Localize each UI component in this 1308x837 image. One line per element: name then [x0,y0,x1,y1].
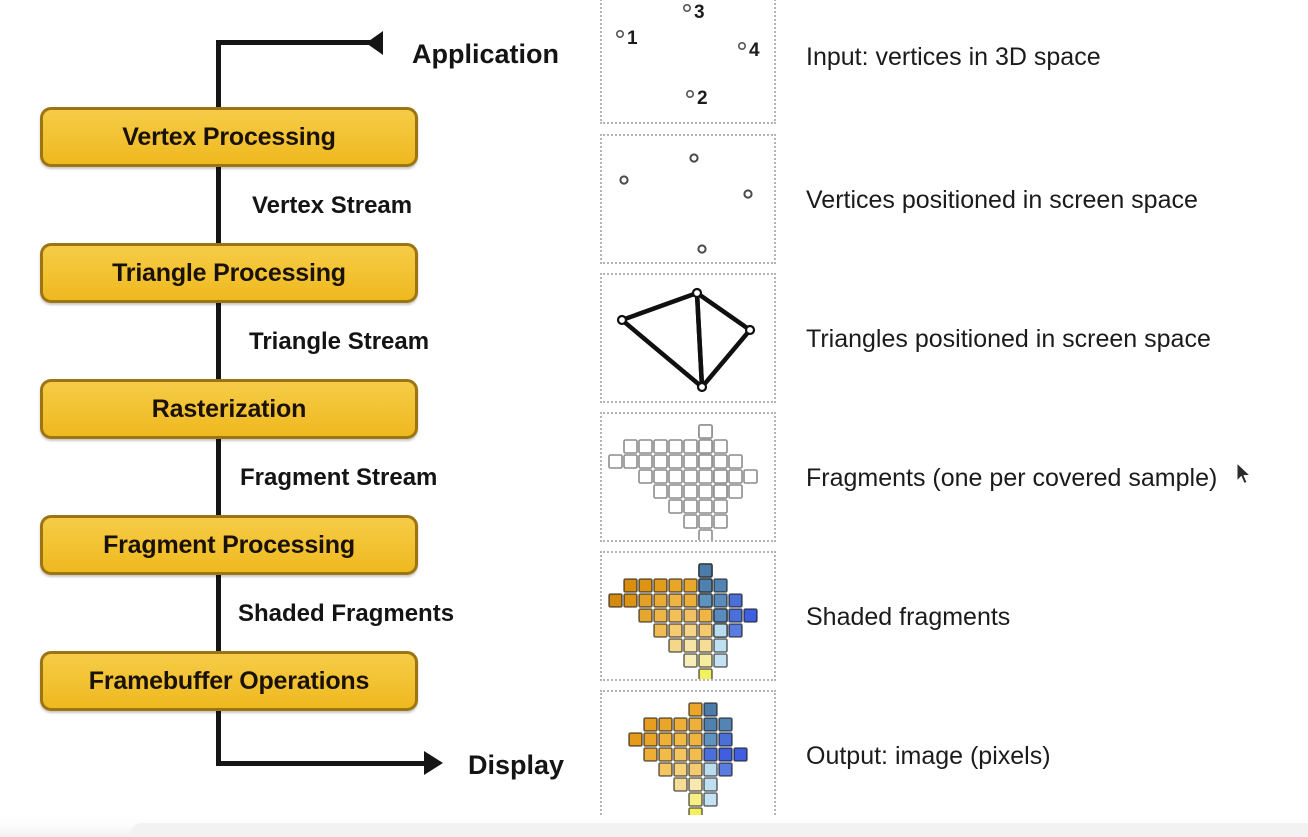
fragment-cell [659,763,672,776]
fragment-cell [684,639,697,652]
fragment-cell [699,564,712,577]
fragment-cell [654,624,667,637]
caption-vertices-screen: Vertices positioned in screen space [806,186,1198,215]
stage-box-triangle-processing[interactable]: Triangle Processing [40,243,418,303]
panel-shaded-fragments-graphic [602,553,774,679]
fragment-cell [719,748,732,761]
fragment-cell [654,440,667,453]
fragment-cell [704,703,717,716]
fragment-cell [714,500,727,513]
edge-label-triangle-stream: Triangle Stream [249,328,429,356]
vertex-number-label: 4 [749,40,760,61]
fragment-cell [704,778,717,791]
stage-box-fragment-processing[interactable]: Fragment Processing [40,515,418,575]
fragment-cell [704,748,717,761]
fragment-cell [654,609,667,622]
vertex-number-label: 1 [627,28,638,49]
vertex-dot [744,190,751,197]
fragment-cell [669,594,682,607]
fragment-cell [729,485,742,498]
fragment-cell [699,624,712,637]
fragment-cell [689,718,702,731]
vertex-dot [746,326,754,334]
fragment-cell [699,594,712,607]
fragment-cell [699,639,712,652]
vertex-dot [618,316,626,324]
fragment-cell [719,733,732,746]
vertex-dot [739,43,745,49]
fragment-cell [639,470,652,483]
fragment-cell [609,455,622,468]
panel-vertices-3d: 1234 [600,0,776,124]
fragment-cell [734,748,747,761]
caption-vertices-3d: Input: vertices in 3D space [806,43,1101,72]
endpoint-display-label: Display [468,750,564,781]
vertex-dot [698,245,705,252]
fragment-cell [714,485,727,498]
page-bottom-edge [0,815,1308,837]
fragment-cell [699,470,712,483]
panel-vertices-screen [600,134,776,264]
fragment-cell [714,654,727,667]
fragment-cell [714,579,727,592]
panel-vertices-screen-graphic [602,136,774,262]
fragment-cell [654,579,667,592]
fragment-cell [684,485,697,498]
triangle-outline [622,293,702,387]
fragment-cell [624,455,637,468]
fragment-cell [669,440,682,453]
fragment-cell [674,718,687,731]
panel-fragments [600,412,776,542]
fragment-cell [684,440,697,453]
fragment-cell [689,793,702,806]
vertex-dot [690,154,697,161]
fragment-cell [704,763,717,776]
fragment-cell [669,455,682,468]
fragment-cell [699,654,712,667]
fragment-cell [719,718,732,731]
page-bottom-edge-inner [130,823,1308,837]
stage-label-fragment-processing: Fragment Processing [103,531,355,560]
fragment-cell [729,624,742,637]
fragment-cell [659,718,672,731]
endpoint-application-label: Application [412,39,559,70]
fragment-cell [714,470,727,483]
stage-box-vertex-processing[interactable]: Vertex Processing [40,107,418,167]
fragment-cell [654,485,667,498]
fragment-cell [699,530,712,540]
fragment-cell [699,515,712,528]
fragment-cell [714,440,727,453]
fragment-cell [684,594,697,607]
fragment-cell [644,718,657,731]
stage-label-rasterization: Rasterization [152,395,306,424]
diagram-canvas: Application Vertex Processing Vertex Str… [0,0,1308,837]
fragment-cell [669,500,682,513]
vertex-dot [620,176,627,183]
panel-output-image-graphic [602,692,774,820]
arrow-right-icon [424,751,443,775]
arrow-left-icon [366,31,383,55]
panel-fragments-graphic [602,414,774,540]
fragment-cell [689,703,702,716]
fragment-cell [674,748,687,761]
panel-output-image [600,690,776,822]
fragment-cell [639,609,652,622]
vertex-dot [684,5,690,11]
panel-triangles-screen-graphic [602,275,774,401]
edge-label-shaded-fragments: Shaded Fragments [238,600,454,628]
fragment-cell [689,778,702,791]
fragment-cell [684,515,697,528]
fragment-cell [654,470,667,483]
fragment-cell [684,579,697,592]
fragment-cell [669,485,682,498]
fragment-cell [689,733,702,746]
connector-application-vertical [216,40,221,112]
connector-stage3-stage4 [216,439,221,517]
stage-label-framebuffer-operations: Framebuffer Operations [89,667,369,696]
stage-label-triangle-processing: Triangle Processing [112,259,346,288]
fragment-cell [684,654,697,667]
connector-display-vertical [216,711,221,766]
fragment-cell [689,748,702,761]
fragment-cell [714,639,727,652]
fragment-cell [644,748,657,761]
stage-box-rasterization[interactable]: Rasterization [40,379,418,439]
fragment-cell [674,763,687,776]
fragment-cell [729,470,742,483]
fragment-cell [609,594,622,607]
fragment-cell [624,579,637,592]
connector-application-horizontal [216,40,382,45]
fragment-cell [704,718,717,731]
fragment-cell [719,763,732,776]
fragment-cell [639,455,652,468]
fragment-cell [659,748,672,761]
vertex-number-label: 2 [697,88,708,109]
fragment-cell [714,609,727,622]
fragment-cell [699,500,712,513]
vertex-dot [698,383,706,391]
fragment-cell [639,579,652,592]
fragment-cell [659,733,672,746]
fragment-cell [699,485,712,498]
fragment-cell [729,609,742,622]
fragment-cell [714,455,727,468]
edge-label-fragment-stream: Fragment Stream [240,464,437,492]
fragment-cell [699,425,712,438]
panel-shaded-fragments [600,551,776,681]
fragment-cell [714,624,727,637]
fragment-cell [624,440,637,453]
fragment-cell [699,455,712,468]
vertex-dot [687,91,693,97]
fragment-cell [684,609,697,622]
fragment-cell [714,594,727,607]
fragment-cell [644,733,657,746]
fragment-cell [744,609,757,622]
fragment-cell [744,470,757,483]
fragment-cell [624,594,637,607]
caption-fragments: Fragments (one per covered sample) [806,464,1217,493]
caption-output-image: Output: image (pixels) [806,742,1051,771]
fragment-cell [684,500,697,513]
fragment-cell [714,515,727,528]
fragment-cell [639,440,652,453]
fragment-cell [674,778,687,791]
stage-box-framebuffer-operations[interactable]: Framebuffer Operations [40,651,418,711]
caption-triangles-screen: Triangles positioned in screen space [806,325,1211,354]
fragment-cell [669,639,682,652]
mouse-cursor-icon [1236,462,1252,486]
caption-shaded-fragments: Shaded fragments [806,603,1010,632]
fragment-cell [699,669,712,679]
fragment-cell [684,624,697,637]
edge-label-vertex-stream: Vertex Stream [252,192,412,220]
vertex-dot [693,289,701,297]
connector-stage1-stage2 [216,167,221,245]
fragment-cell [654,455,667,468]
fragment-cell [689,763,702,776]
panel-triangles-screen [600,273,776,403]
stage-label-vertex-processing: Vertex Processing [122,123,335,152]
fragment-cell [729,594,742,607]
fragment-cell [654,594,667,607]
fragment-cell [699,440,712,453]
fragment-cell [669,624,682,637]
fragment-cell [669,470,682,483]
fragment-cell [704,793,717,806]
fragment-cell [704,733,717,746]
fragment-cell [629,733,642,746]
panel-vertices-3d-graphic: 1234 [602,0,774,122]
fragment-cell [684,455,697,468]
fragment-cell [699,609,712,622]
fragment-cell [674,733,687,746]
fragment-cell [639,594,652,607]
triangle-outline [697,293,750,387]
fragment-cell [669,579,682,592]
connector-stage4-stage5 [216,575,221,653]
fragment-cell [729,455,742,468]
connector-display-horizontal [216,761,426,766]
fragment-cell [684,470,697,483]
fragment-cell [699,579,712,592]
vertex-dot [617,31,623,37]
connector-stage2-stage3 [216,303,221,381]
fragment-cell [669,609,682,622]
vertex-number-label: 3 [694,2,705,23]
